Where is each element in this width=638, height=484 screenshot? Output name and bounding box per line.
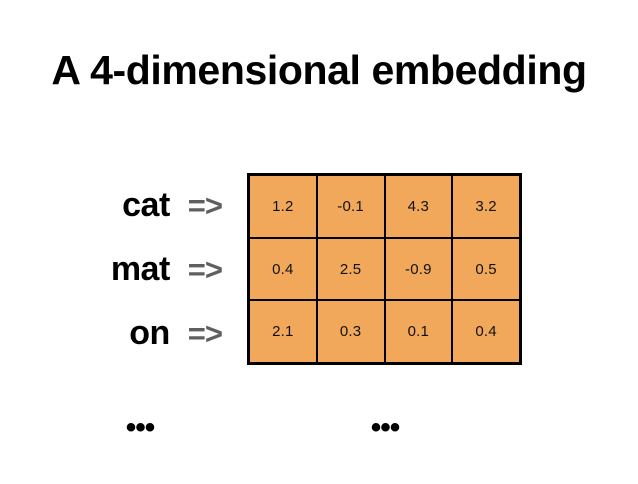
table-row: 0.4 2.5 -0.9 0.5 [250,239,519,302]
maps-to-arrow-icon: => [188,190,222,221]
matrix-cell: -0.9 [386,239,454,300]
ellipsis-words: ••• [126,413,155,443]
matrix-cell: 2.1 [250,301,318,362]
word-row-cat: cat => [26,173,236,237]
matrix-cell: 3.2 [453,176,519,237]
matrix-cell: 1.2 [250,176,318,237]
word-list: cat => mat => on => [26,173,236,365]
maps-to-arrow-icon: => [188,254,222,285]
matrix-cell: 0.1 [386,301,454,362]
embedding-matrix: 1.2 -0.1 4.3 3.2 0.4 2.5 -0.9 0.5 2.1 0.… [247,173,522,365]
table-row: 2.1 0.3 0.1 0.4 [250,301,519,362]
word-label-mat: mat [111,252,170,286]
word-row-on: on => [26,301,236,365]
slide-canvas: A 4-dimensional embedding cat => mat => … [0,0,638,484]
matrix-cell: 2.5 [318,239,386,300]
ellipsis-matrix: ••• [371,413,400,443]
page-title: A 4-dimensional embedding [0,48,638,93]
word-label-cat: cat [122,188,170,222]
matrix-cell: 0.4 [250,239,318,300]
matrix-cell: 4.3 [386,176,454,237]
matrix-cell: 0.4 [453,301,519,362]
table-row: 1.2 -0.1 4.3 3.2 [250,176,519,239]
matrix-cell: -0.1 [318,176,386,237]
matrix-cell: 0.3 [318,301,386,362]
matrix-cell: 0.5 [453,239,519,300]
word-row-mat: mat => [26,237,236,301]
maps-to-arrow-icon: => [188,318,222,349]
word-label-on: on [129,316,170,350]
